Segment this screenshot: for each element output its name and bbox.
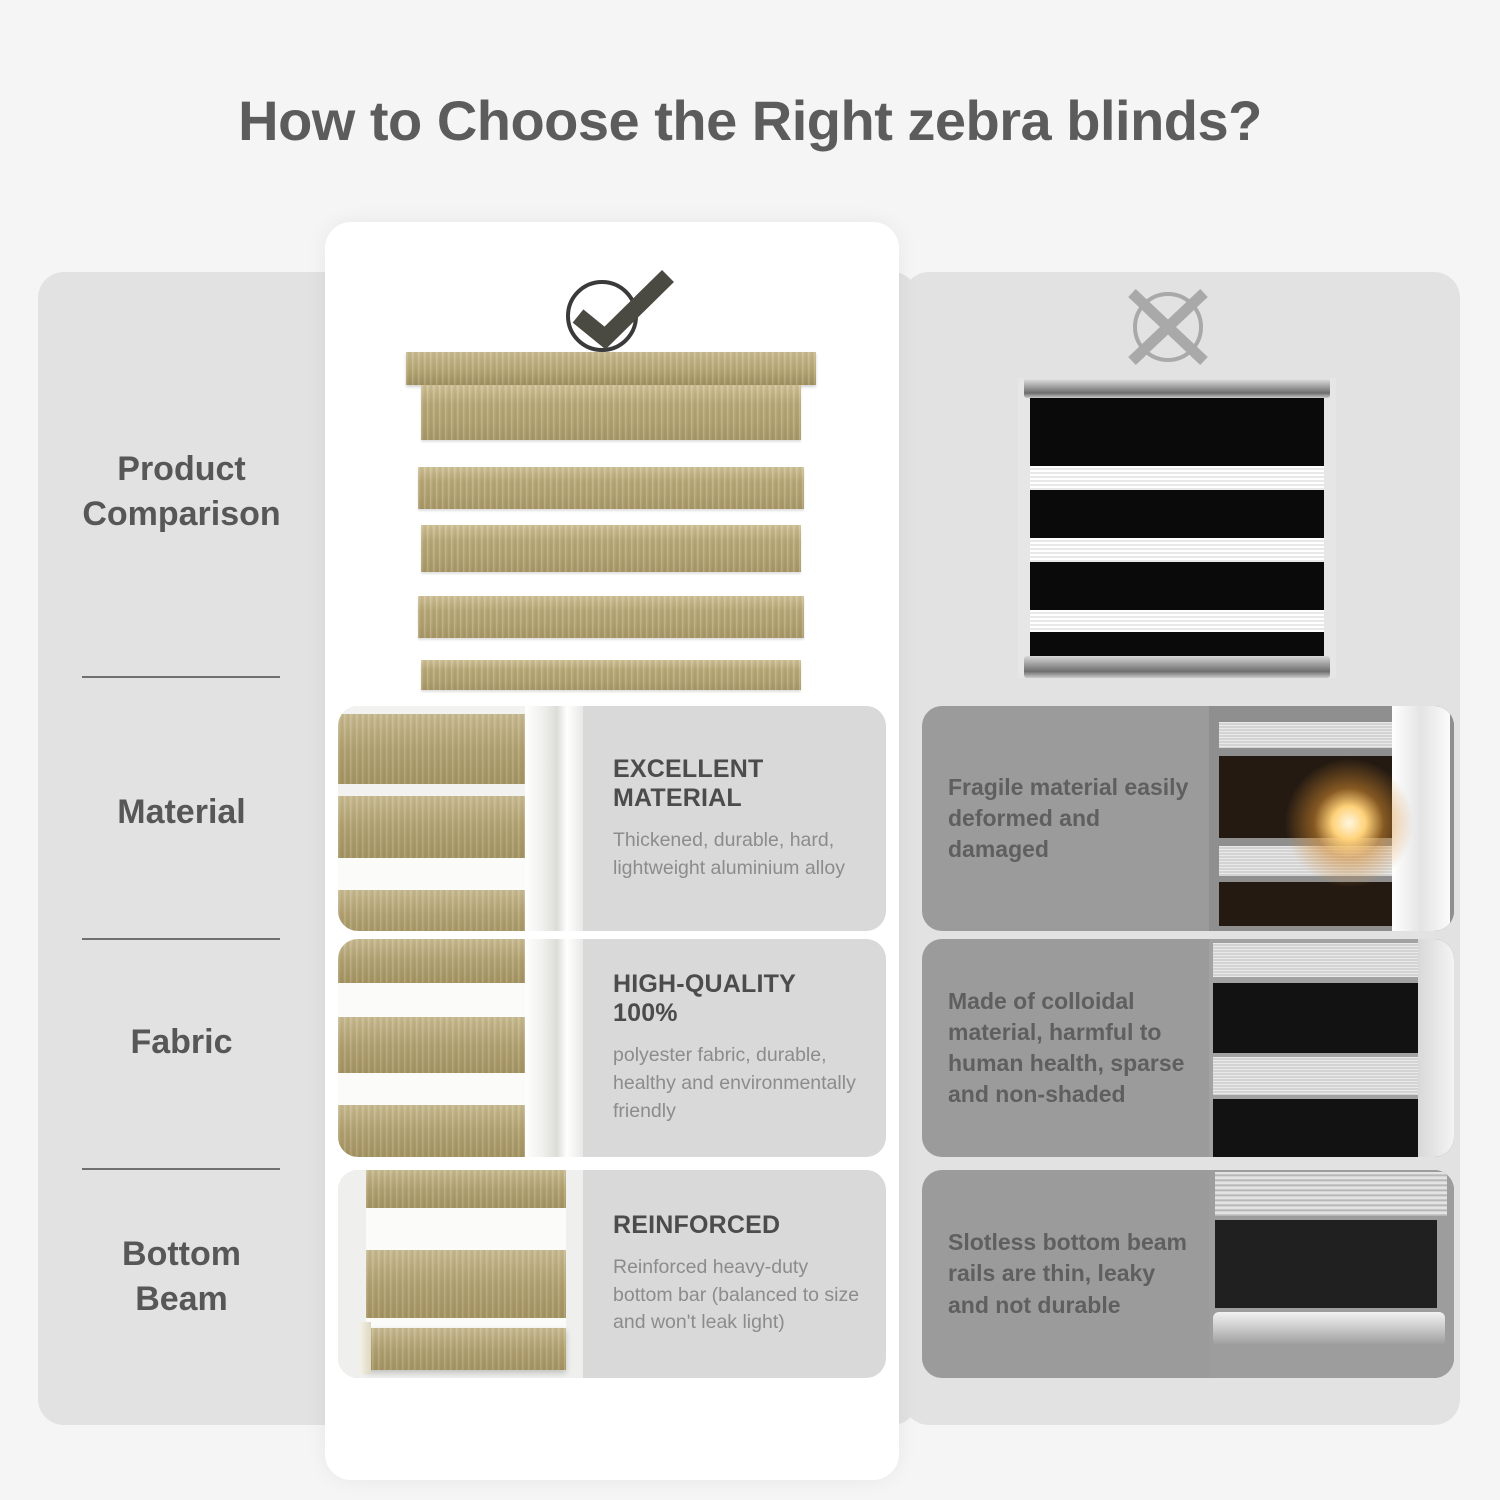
hero-sheer-band xyxy=(1030,466,1324,490)
bad-card-bottom-beam: Slotless bottom beam rails are thin, lea… xyxy=(922,1170,1454,1378)
bad-card-fabric-image xyxy=(1209,939,1454,1157)
good-card-material-text: EXCELLENT MATERIAL Thickened, durable, h… xyxy=(583,706,886,931)
sidebar-label-bottom-beam: BottomBeam xyxy=(122,1232,241,1322)
sidebar-divider-3 xyxy=(82,1168,280,1170)
hero-top-rail xyxy=(1024,378,1330,398)
bad-card-material-image xyxy=(1209,706,1454,931)
sidebar-row-bottom-beam: BottomBeam xyxy=(38,1217,325,1337)
sidebar-divider-2 xyxy=(82,938,280,940)
good-card-bottom-beam-image xyxy=(338,1170,583,1378)
good-card-fabric-body: polyester fabric, durable, healthy and e… xyxy=(613,1042,866,1125)
good-card-fabric-image xyxy=(338,939,583,1157)
bad-card-bottom-beam-text: Slotless bottom beam rails are thin, lea… xyxy=(922,1170,1209,1378)
good-card-bottom-beam-heading: REINFORCED xyxy=(613,1211,866,1240)
bad-card-bottom-beam-image xyxy=(1209,1170,1454,1378)
sidebar-divider-1 xyxy=(82,676,280,678)
good-card-material: EXCELLENT MATERIAL Thickened, durable, h… xyxy=(338,706,886,931)
good-card-material-heading: EXCELLENT MATERIAL xyxy=(613,755,866,813)
hero-image-good-blind xyxy=(406,352,816,697)
good-card-bottom-beam: REINFORCED Reinforced heavy-duty bottom … xyxy=(338,1170,886,1378)
hero-slat xyxy=(418,467,804,509)
hero-dark-band xyxy=(1030,632,1324,656)
good-card-bottom-beam-body: Reinforced heavy-duty bottom bar (balanc… xyxy=(613,1254,866,1337)
hero-sheer-band xyxy=(1030,610,1324,632)
hero-slat xyxy=(421,385,801,440)
hero-sheer-band xyxy=(1030,538,1324,562)
bad-card-material: Fragile material easily deformed and dam… xyxy=(922,706,1454,931)
hero-slat xyxy=(421,525,801,572)
bad-card-material-text: Fragile material easily deformed and dam… xyxy=(922,706,1209,931)
good-card-fabric: HIGH-QUALITY 100% polyester fabric, dura… xyxy=(338,939,886,1157)
hero-bottom-rail xyxy=(1024,656,1330,678)
bad-card-bottom-beam-body: Slotless bottom beam rails are thin, lea… xyxy=(948,1227,1189,1320)
hero-dark-band xyxy=(1030,398,1324,466)
sidebar-label-product-comparison: ProductComparison xyxy=(82,447,280,537)
good-card-bottom-beam-text: REINFORCED Reinforced heavy-duty bottom … xyxy=(583,1170,886,1378)
hero-image-bad-blind xyxy=(1018,378,1336,678)
good-card-material-body: Thickened, durable, hard, lightweight al… xyxy=(613,827,866,882)
criteria-sidebar: ProductComparison Material Fabric Bottom… xyxy=(38,272,325,1425)
x-circle-icon xyxy=(1122,281,1214,373)
sidebar-label-material: Material xyxy=(117,790,246,835)
good-card-material-image xyxy=(338,706,583,931)
sidebar-label-fabric: Fabric xyxy=(130,1020,232,1065)
sidebar-row-fabric: Fabric xyxy=(38,1002,325,1082)
good-card-fabric-heading: HIGH-QUALITY 100% xyxy=(613,970,866,1028)
bad-card-fabric: Made of colloidal material, harmful to h… xyxy=(922,939,1454,1157)
bad-card-material-body: Fragile material easily deformed and dam… xyxy=(948,772,1189,865)
bad-card-fabric-body: Made of colloidal material, harmful to h… xyxy=(948,986,1189,1110)
check-circle-icon xyxy=(556,268,676,358)
hero-bottom-bar xyxy=(421,660,801,690)
hero-dark-band xyxy=(1030,562,1324,610)
good-card-fabric-text: HIGH-QUALITY 100% polyester fabric, dura… xyxy=(583,939,886,1157)
sidebar-row-material: Material xyxy=(38,772,325,852)
hero-dark-band xyxy=(1030,490,1324,538)
sidebar-row-product-comparison: ProductComparison xyxy=(38,432,325,552)
bad-card-fabric-text: Made of colloidal material, harmful to h… xyxy=(922,939,1209,1157)
hero-slat xyxy=(418,596,804,638)
page-title: How to Choose the Right zebra blinds? xyxy=(0,88,1500,153)
